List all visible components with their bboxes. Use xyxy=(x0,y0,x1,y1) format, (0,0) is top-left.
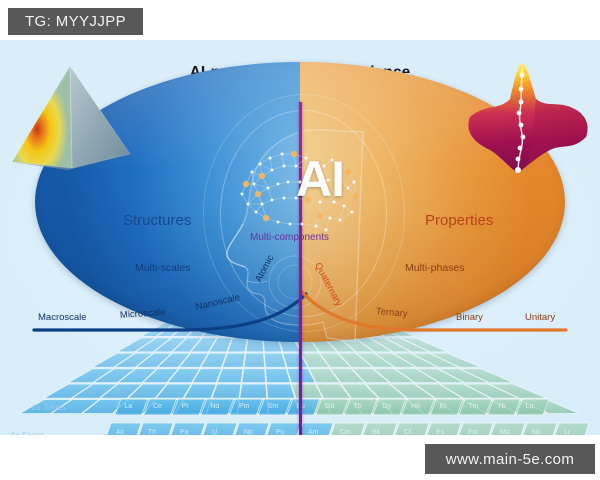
periodic-tile xyxy=(265,423,301,435)
periodic-tile xyxy=(430,399,463,415)
periodic-tile xyxy=(242,369,266,383)
neural-edge xyxy=(262,200,272,204)
multi-phases-label: Multi-phases xyxy=(405,262,465,274)
periodic-tile xyxy=(489,423,525,435)
periodic-tile xyxy=(169,423,205,435)
periodic-tile xyxy=(201,423,237,435)
neural-edge xyxy=(260,158,270,164)
neural-node xyxy=(251,171,254,174)
neural-edge xyxy=(252,172,254,184)
neural-node xyxy=(329,217,332,220)
neural-node xyxy=(301,223,304,226)
periodic-tile xyxy=(212,384,241,398)
figure-canvas: AI-powered materials science xyxy=(0,40,600,435)
properties-heading: Properties xyxy=(425,212,493,229)
neural-node xyxy=(259,173,265,179)
periodic-tile xyxy=(316,399,349,415)
neural-node xyxy=(243,181,249,187)
periodic-tile xyxy=(115,399,148,415)
periodic-tile xyxy=(258,399,291,415)
neural-edge xyxy=(268,184,278,188)
neural-node xyxy=(255,211,258,214)
neural-node xyxy=(247,203,250,206)
screenshot-stage: AI-powered materials science xyxy=(0,0,600,480)
neural-edge xyxy=(302,224,316,226)
energy-landscape-surface-icon xyxy=(452,55,597,180)
neural-edge xyxy=(326,218,330,230)
axis-label-binary: Binary xyxy=(456,312,483,323)
neural-node xyxy=(277,221,280,224)
periodic-tile xyxy=(425,423,461,435)
periodic-tile xyxy=(344,399,377,415)
neural-node xyxy=(339,219,342,222)
periodic-tile xyxy=(459,399,492,415)
neural-node xyxy=(315,225,318,228)
neural-edge xyxy=(316,226,326,230)
structures-heading: Structures xyxy=(123,212,191,229)
neural-edge xyxy=(278,222,290,224)
periodic-tile xyxy=(233,423,269,435)
neural-edge xyxy=(242,194,248,204)
neural-node xyxy=(241,193,244,196)
periodic-tile xyxy=(297,423,333,435)
periodic-tile xyxy=(553,423,589,435)
axis-label-macroscale: Macroscale xyxy=(38,312,87,323)
neural-node xyxy=(253,183,256,186)
neural-node xyxy=(269,157,272,160)
periodic-tile xyxy=(287,399,320,415)
periodic-tile xyxy=(402,399,435,415)
neural-node xyxy=(263,215,269,221)
neural-node xyxy=(289,223,292,226)
axis-label-unitary: Unitary xyxy=(525,312,555,323)
periodic-tile xyxy=(230,399,263,415)
ai-label: AI xyxy=(280,144,360,214)
neural-node xyxy=(261,203,264,206)
ac-series-label: Ac Series xyxy=(10,431,44,435)
periodic-tile xyxy=(329,423,365,435)
periodic-tile xyxy=(144,399,177,415)
neural-node xyxy=(271,199,274,202)
tetrahedron-phase-diagram-icon xyxy=(8,58,138,176)
neural-edge xyxy=(248,204,256,212)
watermark-bottom: www.main-5e.com xyxy=(425,444,595,474)
periodic-tile xyxy=(172,399,205,415)
neural-edge xyxy=(330,218,340,220)
neural-edge xyxy=(252,164,260,172)
periodic-tile xyxy=(264,353,286,367)
periodic-tile xyxy=(137,423,173,435)
neural-edge xyxy=(268,188,272,200)
periodic-tile xyxy=(488,399,521,415)
periodic-tile xyxy=(240,384,267,398)
periodic-tile xyxy=(201,399,234,415)
periodic-tile xyxy=(267,384,295,398)
neural-edge xyxy=(270,158,272,170)
neural-edge xyxy=(260,164,272,170)
periodic-tile xyxy=(457,423,493,435)
neural-edge xyxy=(254,184,268,188)
neural-node xyxy=(325,229,328,232)
periodic-tile xyxy=(373,399,406,415)
neural-node xyxy=(259,163,262,166)
periodic-tile xyxy=(105,423,141,435)
neural-node xyxy=(267,187,270,190)
periodic-tile xyxy=(244,353,265,367)
neural-node xyxy=(255,191,261,197)
watermark-top: TG: MYYJJPP xyxy=(8,8,143,35)
periodic-tile xyxy=(521,423,557,435)
multi-scales-label: Multi-scales xyxy=(135,262,190,274)
periodic-tile xyxy=(361,423,397,435)
periodic-tile xyxy=(393,423,429,435)
neural-node xyxy=(271,169,274,172)
periodic-tile xyxy=(217,369,243,383)
periodic-tile xyxy=(516,399,549,415)
periodic-tile xyxy=(266,369,291,383)
la-series-label: La Series xyxy=(32,403,66,412)
